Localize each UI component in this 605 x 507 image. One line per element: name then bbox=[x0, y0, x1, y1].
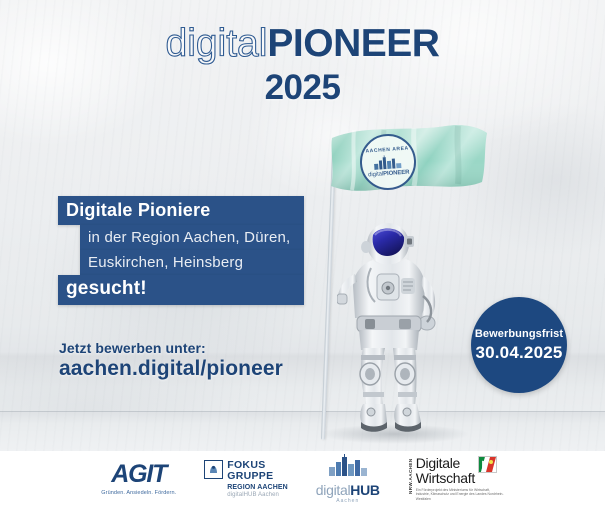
deadline-badge: Bewerbungsfrist 30.04.2025 bbox=[471, 297, 567, 393]
digitalhub-sub: Aachen bbox=[336, 498, 359, 504]
claim-line-2: in der Region Aachen, Düren, bbox=[80, 225, 304, 250]
partner-logo-bar: AGIT Gründen. Ansiedeln. Fördern. FOKUS … bbox=[0, 451, 605, 507]
logo-digitale-wirtschaft-nrw: NRW.AACHEN Digitale Wirtschaft bbox=[408, 456, 504, 501]
digitalhub-wordmark: digitalHUB bbox=[316, 483, 380, 497]
poster-title: digitalPIONEER 2025 bbox=[0, 24, 605, 105]
dwirtschaft-fineprint: Ein Förderprojekt des Ministeriums für W… bbox=[416, 488, 504, 502]
cta-label: Jetzt bewerben unter: bbox=[59, 340, 283, 356]
agit-wordmark: AGIT bbox=[111, 462, 166, 487]
dwirtschaft-line-1: Digitale bbox=[416, 456, 475, 470]
title-line-1: digitalPIONEER bbox=[0, 24, 605, 63]
digitalhub-skyline-icon bbox=[327, 454, 369, 481]
claim-text-block: Digitale Pioniere in der Region Aachen, … bbox=[0, 196, 304, 305]
emblem-bottom-text: digitalPIONEER bbox=[368, 170, 410, 179]
cta-url[interactable]: aachen.digital/pioneer bbox=[59, 357, 283, 381]
agit-tagline: Gründen. Ansiedeln. Fördern. bbox=[101, 490, 176, 496]
emblem-skyline-icon bbox=[373, 154, 404, 170]
claim-line-4: gesucht! bbox=[58, 275, 304, 305]
title-digital: digital bbox=[166, 22, 268, 65]
call-to-action: Jetzt bewerben unter: aachen.digital/pio… bbox=[59, 340, 283, 381]
fokus-line-3: REGION AACHEN bbox=[227, 484, 288, 491]
title-pioneer: PIONEER bbox=[267, 22, 439, 65]
emblem-pioneer: PIONEER bbox=[383, 170, 410, 178]
logo-fokus-gruppe: FOKUS GRUPPE REGION AACHEN digitalHUB Aa… bbox=[204, 460, 288, 498]
fokus-mark-icon bbox=[204, 460, 223, 479]
flag: AACHEN AREA digitalPIONEER bbox=[318, 122, 488, 198]
nrw-vertical-text: NRW.AACHEN bbox=[408, 464, 413, 494]
digitalhub-hub: HUB bbox=[350, 482, 379, 498]
astronaut-figure-icon bbox=[337, 222, 443, 440]
nrw-crest-icon bbox=[478, 456, 497, 473]
fokus-line-2: GRUPPE bbox=[227, 471, 288, 482]
digitalhub-digital: digital bbox=[316, 482, 350, 498]
deadline-label: Bewerbungsfrist bbox=[475, 328, 563, 340]
floor-surface bbox=[0, 412, 605, 451]
fokus-line-4: digitalHUB Aachen bbox=[227, 492, 288, 498]
floor-edge bbox=[0, 411, 605, 413]
logo-digitalhub: digitalHUB Aachen bbox=[316, 454, 380, 504]
emblem-digital: digital bbox=[368, 171, 383, 178]
logo-agit: AGIT Gründen. Ansiedeln. Fördern. bbox=[101, 462, 176, 496]
title-year: 2025 bbox=[0, 70, 605, 105]
claim-line-3: Euskirchen, Heinsberg bbox=[80, 250, 304, 275]
astronaut bbox=[337, 222, 443, 440]
dwirtschaft-line-2: Wirtschaft bbox=[416, 471, 475, 485]
deadline-date: 30.04.2025 bbox=[475, 343, 562, 363]
claim-line-1: Digitale Pioniere bbox=[58, 196, 304, 225]
poster-image: digitalPIONEER 2025 bbox=[0, 0, 605, 507]
